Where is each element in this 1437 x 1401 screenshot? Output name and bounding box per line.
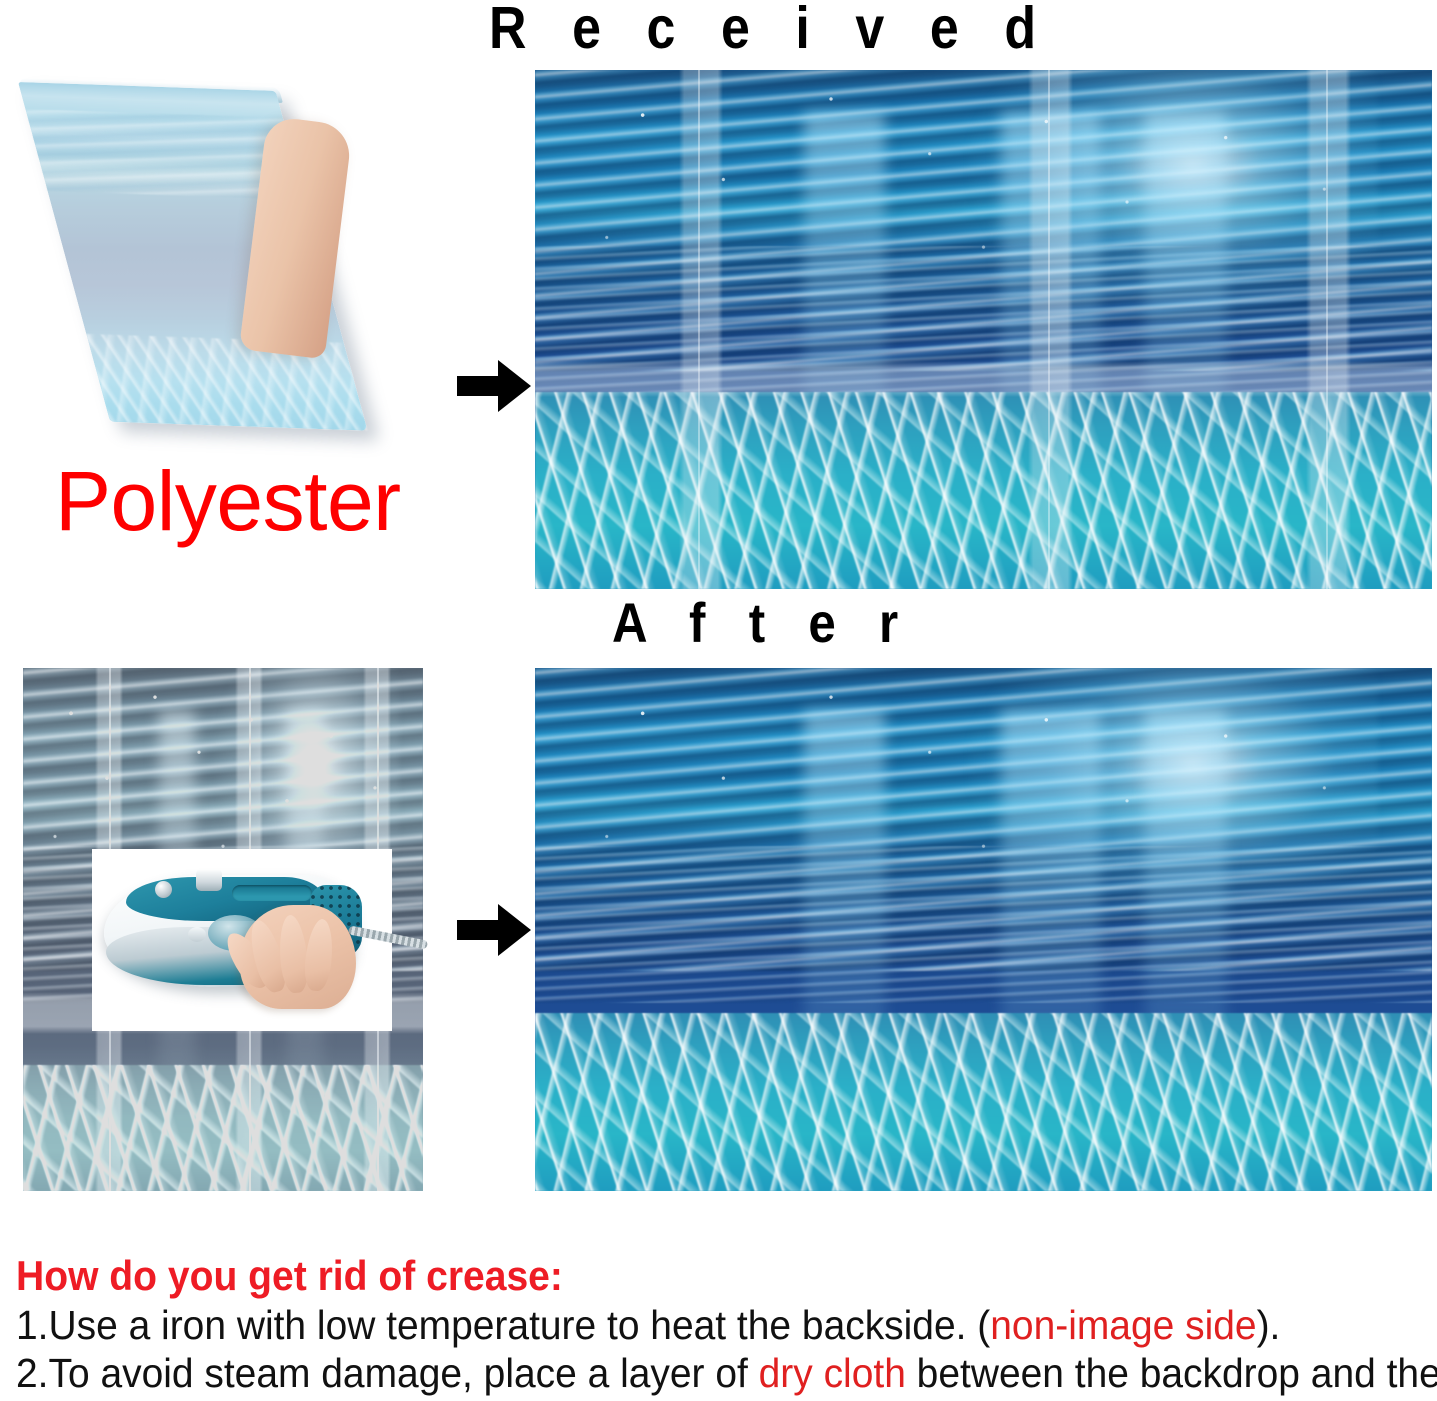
instruction-2-highlight: dry cloth bbox=[759, 1350, 906, 1396]
polyester-label: Polyester bbox=[55, 456, 401, 546]
underwater-scene bbox=[535, 668, 1432, 1191]
instruction-2-part2: between the backdrop and the iron. bbox=[906, 1350, 1437, 1396]
instruction-line-1: 1.Use a iron with low temperature to hea… bbox=[16, 1302, 1356, 1348]
iron-spray-button bbox=[188, 927, 206, 942]
after-heading: A f t e r bbox=[612, 593, 913, 653]
seafloor-caustics bbox=[535, 1013, 1432, 1191]
seafloor-caustics bbox=[535, 392, 1432, 589]
hand bbox=[240, 905, 356, 1009]
iron-photo bbox=[92, 849, 392, 1031]
instruction-2-part1: 2.To avoid steam damage, place a layer o… bbox=[16, 1350, 759, 1396]
right-arrow-icon bbox=[457, 358, 531, 414]
bubbles bbox=[535, 70, 1432, 392]
underwater-scene bbox=[535, 70, 1432, 589]
instructions-heading: How do you get rid of crease: bbox=[16, 1252, 1327, 1300]
seafloor-caustics bbox=[23, 1065, 423, 1191]
instruction-1-part2: ). bbox=[1257, 1302, 1281, 1348]
received-heading: R e c e i v e d bbox=[489, 0, 1052, 59]
instruction-1-part1: 1.Use a iron with low temperature to hea… bbox=[16, 1302, 990, 1348]
instructions-block: How do you get rid of crease: 1.Use a ir… bbox=[16, 1252, 1426, 1396]
after-backdrop-image bbox=[535, 668, 1432, 1191]
iron-steam-knob bbox=[196, 869, 222, 891]
received-backdrop-image bbox=[535, 70, 1432, 589]
instruction-1-highlight: non-image side bbox=[990, 1302, 1256, 1348]
instruction-line-2: 2.To avoid steam damage, place a layer o… bbox=[16, 1350, 1356, 1396]
right-arrow-icon bbox=[457, 902, 531, 958]
bubbles bbox=[535, 668, 1432, 992]
iron-temperature-dial bbox=[155, 881, 172, 898]
iron-vent-slot bbox=[232, 885, 312, 901]
